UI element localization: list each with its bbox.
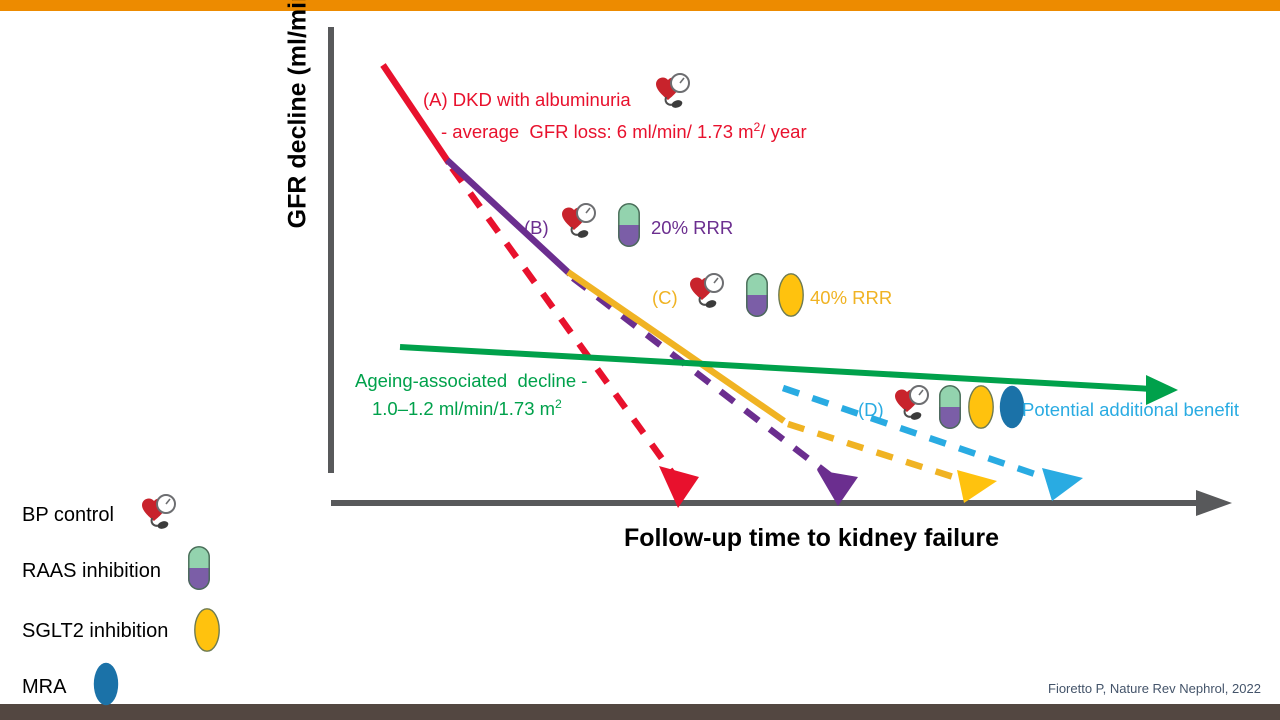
legend-label-bp-control: BP control	[22, 504, 114, 527]
citation-text: Fioretto P, Nature Rev Nephrol, 2022	[1048, 681, 1261, 696]
gfr-decline-figure	[0, 0, 1280, 720]
annotation-a-sublabel: - average GFR loss: 6 ml/min/ 1.73 m2/ y…	[441, 120, 807, 143]
yellow-pill-icon	[195, 609, 219, 651]
y-axis-title: GFR decline (ml/min/1.73 m2/ year)	[253, 0, 341, 270]
yellow-pill-icon	[779, 274, 803, 316]
annotation-a-label: (A) DKD with albuminuria	[423, 89, 631, 111]
capsule-icon	[746, 273, 768, 317]
annotation-a-sublabel-pre: - average GFR loss: 6 ml/min/ 1.73 m	[441, 121, 754, 142]
blue-pill-icon	[1000, 386, 1024, 428]
legend-label-sglt2: SGLT2 inhibition	[22, 620, 168, 643]
bp-heart-icon	[656, 74, 689, 109]
icon-cluster-b	[562, 203, 640, 247]
legend-icon-raas	[188, 546, 210, 590]
blue-pill-icon	[94, 663, 118, 705]
x-axis-title: Follow-up time to kidney failure	[624, 524, 999, 553]
annotation-ageing-line2-sup: 2	[555, 397, 562, 411]
bp-heart-icon	[690, 274, 723, 309]
y-axis-title-wrap: GFR decline (ml/min/1.73 m2/ year)	[262, 20, 302, 500]
series-b-solid-segment	[447, 160, 570, 274]
icon-cluster-d	[895, 385, 1024, 429]
yellow-pill-icon	[969, 386, 993, 428]
annotation-a-sublabel-post: / year	[760, 121, 806, 142]
annotation-d-value: Potential additional benefit	[1022, 399, 1239, 421]
slide-canvas: GFR decline (ml/min/1.73 m2/ year) Follo…	[0, 0, 1280, 720]
annotation-ageing-line1: Ageing-associated decline -	[355, 370, 587, 392]
annotation-ageing-line2-pre: 1.0–1.2 ml/min/1.73 m	[372, 398, 555, 419]
series-a-solid-segment	[383, 65, 449, 163]
legend-label-raas: RAAS inhibition	[22, 560, 161, 583]
bp-heart-icon	[142, 495, 175, 530]
icon-cluster-a	[656, 74, 689, 109]
series-c-dashed-segment	[788, 424, 972, 483]
legend-icon-mra	[94, 663, 118, 705]
capsule-icon	[618, 203, 640, 247]
annotation-c-value: 40% RRR	[810, 287, 892, 309]
icon-cluster-c	[690, 273, 803, 317]
legend-label-mra: MRA	[22, 676, 66, 699]
series-d-arrowhead	[1042, 468, 1083, 501]
series-c-arrowhead	[957, 470, 997, 503]
legend-icon-bp-control	[142, 495, 175, 530]
annotation-c-label: (C)	[652, 287, 678, 309]
annotation-d-label: (D)	[858, 399, 884, 421]
legend-icon-sglt2	[195, 609, 219, 651]
bp-heart-icon	[895, 386, 928, 421]
annotation-ageing-line2: 1.0–1.2 ml/min/1.73 m2	[372, 397, 562, 420]
annotation-b-value: 20% RRR	[651, 217, 733, 239]
x-axis-arrowhead	[1196, 490, 1232, 516]
bp-heart-icon	[562, 204, 595, 239]
annotation-b-label: (B)	[524, 217, 549, 239]
capsule-icon	[188, 546, 210, 590]
capsule-icon	[939, 385, 961, 429]
